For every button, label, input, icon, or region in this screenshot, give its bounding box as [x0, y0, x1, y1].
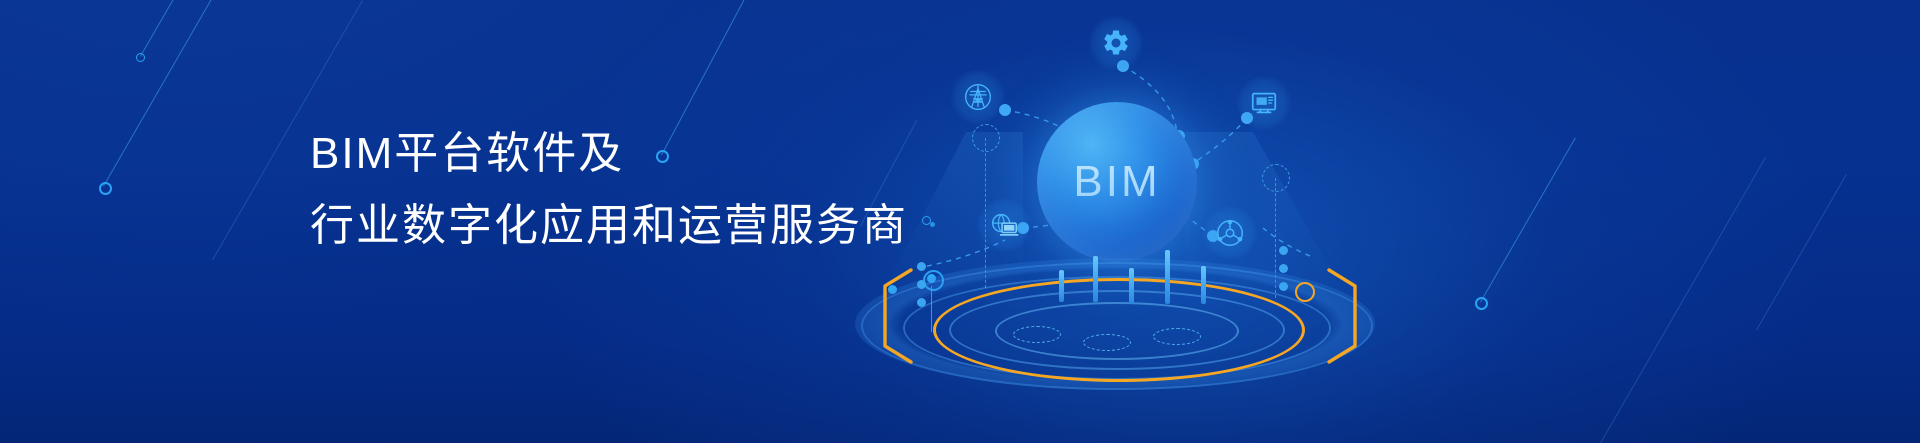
power-tower-node — [951, 70, 1005, 124]
bracket-left-icon — [877, 268, 917, 364]
monitor-icon — [1249, 88, 1279, 118]
server-globe-node — [977, 198, 1031, 252]
monitor-node — [1237, 76, 1291, 130]
server-globe-icon — [988, 209, 1020, 241]
dot — [917, 280, 926, 289]
bracket-right — [1323, 268, 1363, 364]
data-bar-5 — [1201, 266, 1206, 304]
dot — [1279, 246, 1288, 255]
gear-node — [1089, 16, 1143, 70]
bracket-right-icon — [1323, 268, 1363, 364]
diagonal-line-8 — [1756, 174, 1847, 330]
diagonal-line-7 — [1600, 157, 1766, 443]
headline-line-2: 行业数字化应用和运营服务商 — [310, 190, 908, 262]
diagonal-line-6-endpoint — [1475, 297, 1488, 310]
bim-illustration: BIM — [855, 0, 1395, 443]
dot-column-left — [917, 262, 926, 307]
dot — [1279, 264, 1288, 273]
power-tower-icon — [961, 80, 995, 114]
orbit-marker-1 — [1013, 326, 1061, 343]
headline-line-1: BIM平台软件及 — [310, 118, 908, 190]
orbit-side-dot-right — [1295, 282, 1315, 302]
diagonal-line-1 — [103, 0, 229, 186]
page-title: BIM平台软件及 行业数字化应用和运营服务商 — [310, 118, 908, 262]
gear-icon — [1101, 28, 1131, 58]
stem-left-head — [972, 124, 1000, 152]
orbit-marker-3 — [1153, 328, 1201, 345]
network-icon — [1214, 217, 1246, 249]
dot — [917, 298, 926, 307]
data-bar-2 — [1093, 256, 1098, 302]
bracket-left — [877, 268, 917, 364]
orbit-rings — [845, 248, 1405, 428]
dot-column-right — [1279, 246, 1288, 291]
orbit-highlight-ellipse — [933, 278, 1305, 382]
dot — [917, 262, 926, 271]
data-bar-4 — [1165, 250, 1170, 304]
diagonal-line-3 — [140, 0, 221, 56]
data-bar-1 — [1059, 270, 1064, 302]
dot — [1279, 282, 1288, 291]
stem-right-head — [1262, 164, 1290, 192]
hero-banner: BIM平台软件及 行业数字化应用和运营服务商 — [0, 0, 1920, 443]
diagonal-line-6 — [1480, 137, 1576, 302]
diagonal-line-1-endpoint — [99, 182, 112, 195]
data-bar-3 — [1129, 268, 1134, 304]
bim-sphere-label: BIM — [1037, 102, 1197, 262]
diagonal-line-3-endpoint — [136, 53, 145, 62]
orbit-marker-2 — [1083, 334, 1131, 351]
